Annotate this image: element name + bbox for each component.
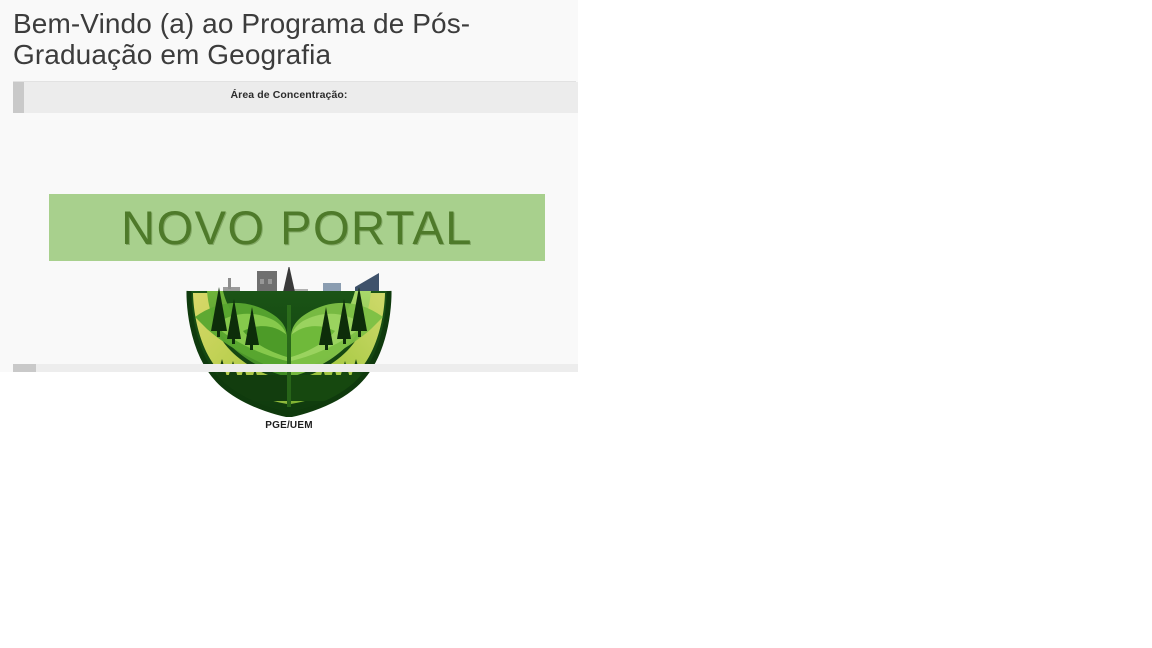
novo-portal-banner[interactable]: NOVO PORTAL (49, 194, 545, 261)
novo-portal-label: NOVO PORTAL (121, 204, 473, 251)
page-root: Bem-Vindo (a) ao Programa de Pós-Graduaç… (0, 0, 1152, 648)
page-title: Bem-Vindo (a) ao Programa de Pós-Graduaç… (0, 0, 578, 81)
card-body: Área de Concentração: NOVO PORTAL (0, 82, 578, 372)
welcome-card: Bem-Vindo (a) ao Programa de Pós-Graduaç… (0, 0, 578, 372)
logo-caption: PGE/UEM (0, 420, 578, 431)
pge-uem-logo-icon (183, 257, 395, 417)
logo-block: PGE/UEM (0, 257, 578, 431)
horizontal-scrollbar-track[interactable] (13, 364, 578, 372)
horizontal-scrollbar-thumb[interactable] (13, 364, 36, 372)
